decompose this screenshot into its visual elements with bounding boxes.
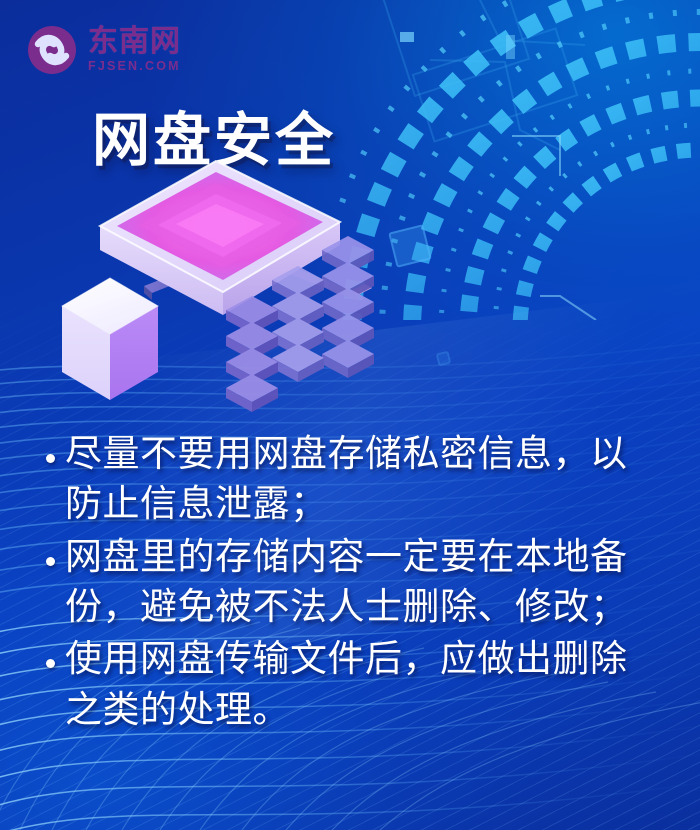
list-item: 网盘里的存储内容一定要在本地备份，避免被不法人士删除、修改； [46,533,658,634]
logo-domain: FJSEN.COM [88,60,181,73]
list-item-text: 使用网盘传输文件后，应做出删除之类的处理。 [65,635,658,736]
list-item-text: 尽量不要用网盘存储私密信息，以防止信息泄露； [65,430,658,531]
logo-wordmark: 东南网 FJSEN.COM [88,27,181,73]
list-item: 尽量不要用网盘存储私密信息，以防止信息泄露； [46,430,658,531]
list-item-text: 网盘里的存储内容一定要在本地备份，避免被不法人士删除、修改； [65,533,658,634]
storage-box [62,278,158,400]
bullet-dot-icon [46,659,55,668]
isometric-cloud-storage-diagram [40,160,440,420]
site-logo[interactable]: 东南网 FJSEN.COM [26,24,181,76]
logo-chinese-name: 东南网 [88,27,181,57]
fjsen-swirl-logo-icon [26,24,78,76]
poster-root: 东南网 FJSEN.COM 网盘安全 [0,0,700,830]
list-item: 使用网盘传输文件后，应做出删除之类的处理。 [46,635,658,736]
bullet-dot-icon [46,454,55,463]
bullet-dot-icon [46,557,55,566]
tips-list: 尽量不要用网盘存储私密信息，以防止信息泄露； 网盘里的存储内容一定要在本地备份，… [46,430,658,738]
